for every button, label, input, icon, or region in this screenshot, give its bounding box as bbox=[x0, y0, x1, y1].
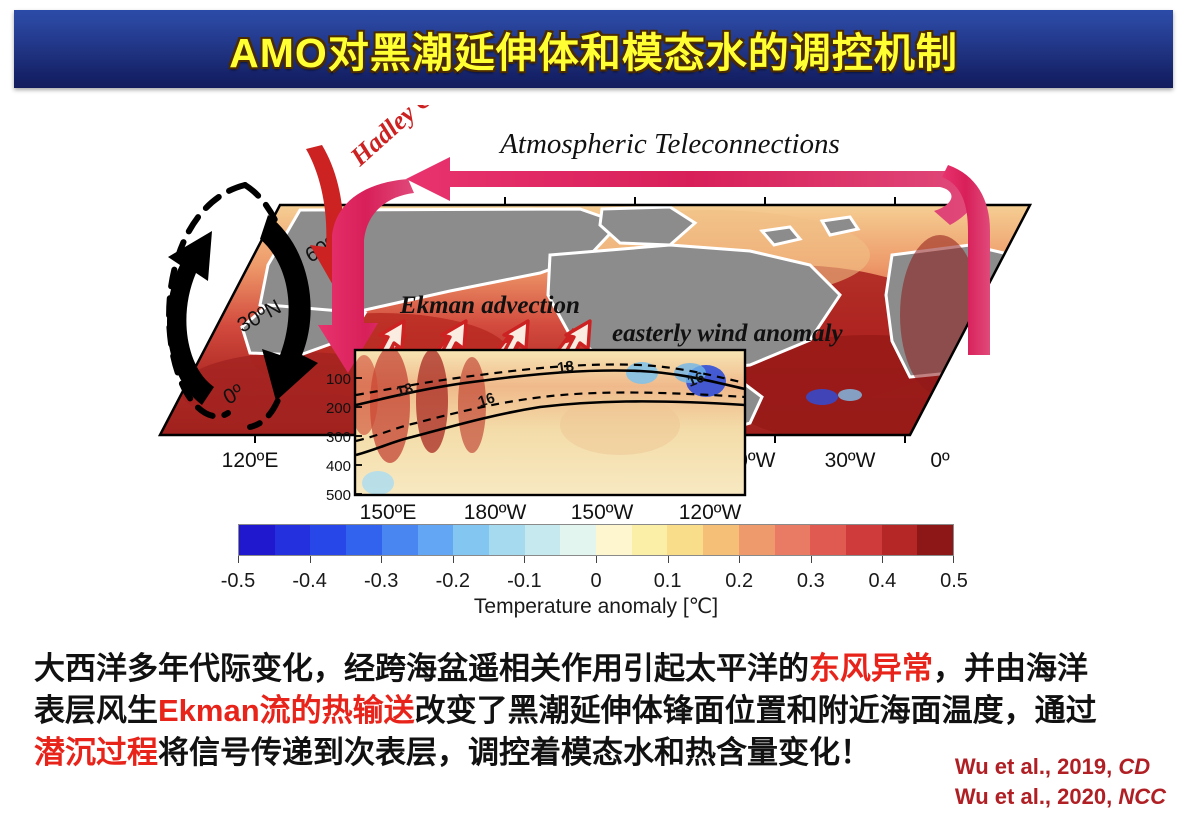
colorbar-label-10: 0.5 bbox=[940, 570, 968, 593]
colorbar-cell-10 bbox=[596, 525, 632, 555]
colorbar-tick-4 bbox=[524, 556, 525, 563]
colorbar-cell-15 bbox=[775, 525, 811, 555]
lon-label-30W: 30ºW bbox=[825, 449, 876, 472]
svg-text:400: 400 bbox=[326, 458, 351, 475]
body-line1-b: ，并由海洋 bbox=[933, 651, 1088, 686]
citation-1-authors: Wu et al., 2019, bbox=[955, 754, 1118, 779]
colorbar-tick-6 bbox=[668, 556, 669, 563]
lon-label-120E: 120ºE bbox=[222, 449, 279, 472]
colorbar-cell-0 bbox=[239, 525, 275, 555]
colorbar-cell-19 bbox=[917, 525, 953, 555]
body-line-1: 大西洋多年代际变化，经跨海盆遥相关作用引起太平洋的东风异常，并由海洋 bbox=[34, 648, 1159, 690]
colorbar-label-6: 0.1 bbox=[654, 570, 682, 593]
colorbar bbox=[238, 524, 954, 556]
svg-text:100: 100 bbox=[326, 371, 351, 388]
citation-2-journal: NCC bbox=[1118, 784, 1166, 809]
colorbar-cell-14 bbox=[739, 525, 775, 555]
svg-text:150ºW: 150ºW bbox=[571, 501, 634, 524]
colorbar-cell-9 bbox=[560, 525, 596, 555]
body-line1-highlight: 东风异常 bbox=[809, 651, 933, 686]
svg-text:150ºE: 150ºE bbox=[360, 501, 417, 524]
body-line3-b: 将信号传递到次表层，调控着模态水和热含量变化！ bbox=[158, 735, 871, 770]
colorbar-tick-5 bbox=[596, 556, 597, 563]
colorbar-tick-10 bbox=[953, 556, 954, 563]
citation-1: Wu et al., 2019, CD bbox=[955, 752, 1166, 782]
colorbar-title: Temperature anomaly [℃] bbox=[238, 594, 954, 619]
citations-block: Wu et al., 2019, CD Wu et al., 2020, NCC bbox=[955, 752, 1166, 813]
svg-text:18: 18 bbox=[556, 358, 575, 377]
colorbar-cell-18 bbox=[882, 525, 918, 555]
colorbar-cell-3 bbox=[346, 525, 382, 555]
svg-text:500: 500 bbox=[326, 487, 351, 504]
svg-text:200: 200 bbox=[326, 400, 351, 417]
colorbar-tick-2 bbox=[381, 556, 382, 563]
colorbar-tick-7 bbox=[739, 556, 740, 563]
body-line2-b: 改变了黑潮延伸体锋面位置和附近海面温度，通过 bbox=[415, 693, 1097, 728]
colorbar-tick-labels: -0.5-0.4-0.3-0.2-0.100.10.20.30.40.5 bbox=[238, 569, 954, 593]
colorbar-cell-6 bbox=[453, 525, 489, 555]
svg-text:120ºW: 120ºW bbox=[679, 501, 742, 524]
colorbar-label-4: -0.1 bbox=[507, 570, 541, 593]
colorbar-tick-9 bbox=[882, 556, 883, 563]
colorbar-label-8: 0.3 bbox=[797, 570, 825, 593]
colorbar-cell-4 bbox=[382, 525, 418, 555]
colorbar-cell-5 bbox=[418, 525, 454, 555]
colorbar-tick-1 bbox=[310, 556, 311, 563]
colorbar-ticks bbox=[238, 556, 954, 569]
colorbar-tick-0 bbox=[238, 556, 239, 563]
colorbar-block: -0.5-0.4-0.3-0.2-0.100.10.20.30.40.5 Tem… bbox=[238, 524, 954, 619]
ekman-label: Ekman advection bbox=[399, 292, 580, 319]
colorbar-label-5: 0 bbox=[590, 570, 601, 593]
colorbar-cell-13 bbox=[703, 525, 739, 555]
colorbar-cell-12 bbox=[667, 525, 703, 555]
title-banner: AMO对黑潮延伸体和模态水的调控机制 bbox=[14, 10, 1173, 88]
body-line-2: 表层风生Ekman流的热输送改变了黑潮延伸体锋面位置和附近海面温度，通过 bbox=[34, 690, 1159, 732]
teleconnections-label: Atmospheric Teleconnections bbox=[498, 128, 840, 160]
body-line1-a: 大西洋多年代际变化，经跨海盆遥相关作用引起太平洋的 bbox=[34, 651, 809, 686]
colorbar-cell-1 bbox=[275, 525, 311, 555]
colorbar-label-9: 0.4 bbox=[868, 570, 896, 593]
colorbar-label-2: -0.3 bbox=[364, 570, 398, 593]
colorbar-label-1: -0.4 bbox=[292, 570, 326, 593]
lon-label-0: 0º bbox=[930, 449, 950, 472]
citation-1-journal: CD bbox=[1118, 754, 1150, 779]
colorbar-cell-2 bbox=[310, 525, 346, 555]
colorbar-cell-17 bbox=[846, 525, 882, 555]
colorbar-tick-8 bbox=[811, 556, 812, 563]
colorbar-tick-3 bbox=[453, 556, 454, 563]
svg-text:180ºW: 180ºW bbox=[464, 501, 527, 524]
colorbar-cell-11 bbox=[632, 525, 668, 555]
body-line3-highlight: 潜沉过程 bbox=[34, 735, 158, 770]
citation-2-authors: Wu et al., 2020, bbox=[955, 784, 1118, 809]
colorbar-cell-8 bbox=[525, 525, 561, 555]
colorbar-label-0: -0.5 bbox=[221, 570, 255, 593]
page-title: AMO对黑潮延伸体和模态水的调控机制 bbox=[229, 19, 958, 79]
easterly-label: easterly wind anomaly bbox=[612, 320, 843, 347]
citation-2: Wu et al., 2020, NCC bbox=[955, 782, 1166, 812]
colorbar-cell-7 bbox=[489, 525, 525, 555]
colorbar-label-7: 0.2 bbox=[725, 570, 753, 593]
inset-lon-labels: 150ºE 180ºW 150ºW 120ºW bbox=[360, 501, 742, 524]
colorbar-cell-16 bbox=[810, 525, 846, 555]
colorbar-label-3: -0.2 bbox=[436, 570, 470, 593]
svg-text:300: 300 bbox=[326, 429, 351, 446]
body-line2-a: 表层风生 bbox=[34, 693, 158, 728]
depth-section-inset: 18 18 16 16 100 200 300 400 500 150ºE 18… bbox=[326, 347, 745, 524]
body-line2-highlight: Ekman流的热输送 bbox=[158, 693, 415, 728]
